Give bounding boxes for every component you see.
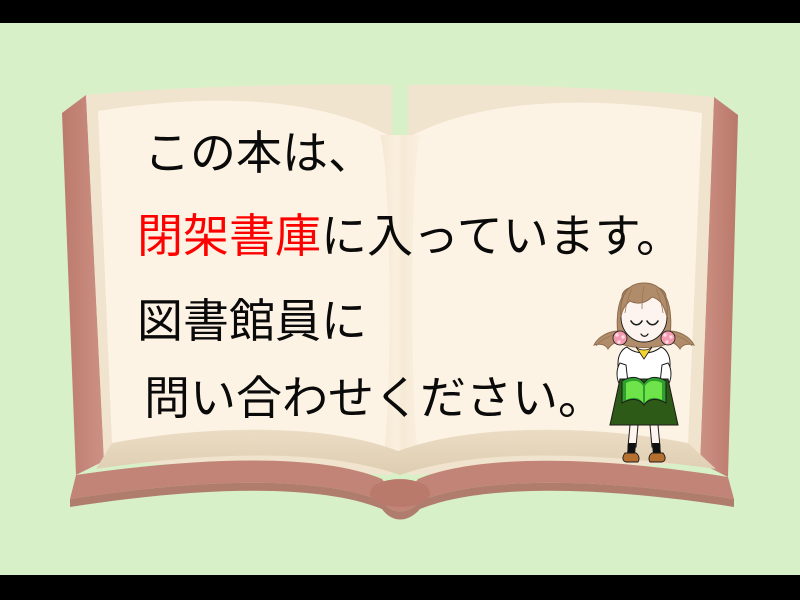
letterbox-bar-top: [0, 0, 800, 23]
letterbox-bar-bottom: [0, 575, 800, 600]
notice-line-2: 閉架書庫に入っています。: [137, 213, 682, 259]
closed-stacks-highlight: 閉架書庫: [137, 209, 321, 263]
book-spine-bump: [370, 479, 430, 507]
notice-line-1: この本は、: [144, 130, 374, 176]
hair-tie-left: [613, 331, 627, 345]
screenshot-canvas: この本は、 閉架書庫に入っています。 図書館員に 問い合わせください。: [0, 0, 800, 600]
shoe-left: [623, 453, 639, 462]
shoe-right: [649, 453, 665, 462]
hair-tie-right: [661, 331, 675, 345]
girl-reading-illustration: [592, 275, 696, 465]
notice-line-2-rest: に入っています。: [321, 209, 682, 263]
notice-line-3: 図書館員に: [137, 298, 367, 344]
notice-line-4: 問い合わせください。: [144, 375, 604, 421]
